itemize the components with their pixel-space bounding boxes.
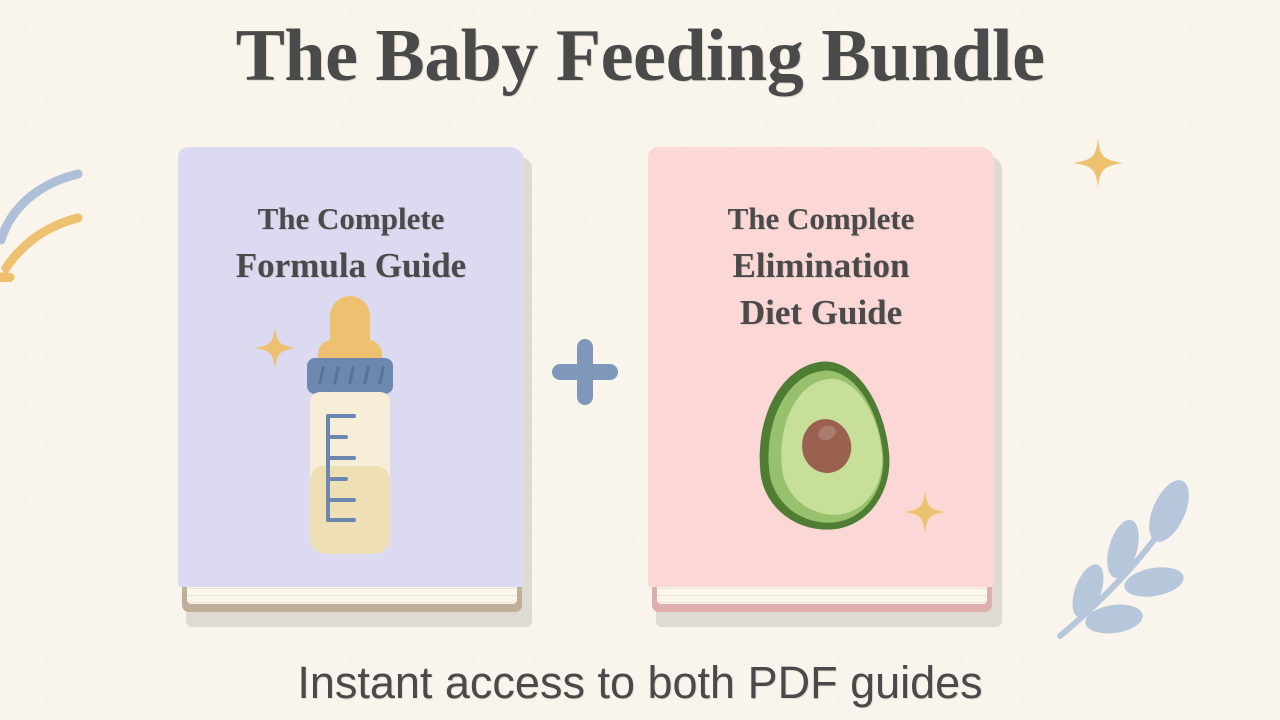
sparkle-star-icon: [253, 326, 297, 370]
book-title-line-2: Elimination: [648, 242, 994, 289]
book-title-line-2: Formula Guide: [178, 242, 524, 289]
book-formula-guide[interactable]: The Complete Formula Guide: [178, 147, 524, 622]
caption-text: Instant access to both PDF guides: [0, 652, 1280, 714]
bottle-measure-scale: [326, 414, 330, 522]
book-title-line-3: Diet Guide: [648, 289, 994, 336]
book-elimination-diet-guide[interactable]: The Complete Elimination Diet Guide: [648, 147, 994, 622]
leaf-branch-icon: [1044, 454, 1234, 644]
book-title-line-1: The Complete: [648, 195, 994, 242]
plus-separator-icon: [552, 339, 618, 405]
book-title-line-1: The Complete: [178, 195, 524, 242]
bundle-graphic: The Baby Feeding Bundle The Complete For…: [0, 0, 1280, 720]
sparkle-icon: [903, 490, 947, 534]
sparkle-star-icon: [1072, 137, 1124, 189]
sparkle-icon: [253, 326, 297, 370]
bottle-collar: [307, 358, 393, 394]
swoosh-decoration: [0, 152, 116, 282]
sparkle-icon: [1072, 137, 1124, 189]
avocado-half-icon: [758, 362, 888, 530]
swoosh-icon: [0, 152, 116, 282]
leaf-branch-decoration: [1044, 454, 1234, 644]
book-cover: The Complete Elimination Diet Guide: [648, 147, 994, 587]
book-cover: The Complete Formula Guide: [178, 147, 524, 587]
baby-bottle-icon: [296, 296, 404, 558]
bottle-body: [310, 392, 390, 554]
book-title: The Complete Formula Guide: [178, 195, 524, 289]
bottle-milk-fill: [310, 466, 390, 554]
book-title: The Complete Elimination Diet Guide: [648, 195, 994, 336]
sparkle-star-icon: [903, 490, 947, 534]
page-title: The Baby Feeding Bundle: [0, 6, 1280, 106]
